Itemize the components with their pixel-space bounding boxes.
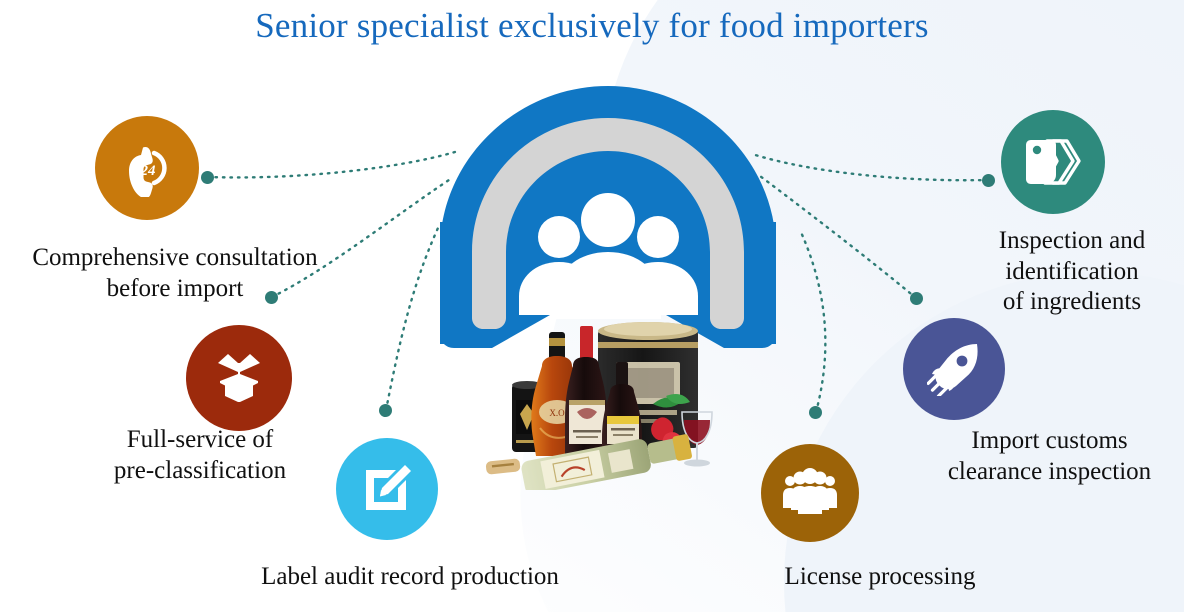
page-title: Senior specialist exclusively for food i… xyxy=(0,6,1184,46)
people-group-icon xyxy=(783,468,837,518)
edit-pencil-square-icon xyxy=(360,462,414,516)
node-license-processing[interactable] xyxy=(761,444,859,542)
node-label-audit-record-production[interactable] xyxy=(336,438,438,540)
label-label-audit-record-production: Label audit record production xyxy=(195,562,625,593)
svg-text:X.O: X.O xyxy=(549,408,565,418)
imported-food-and-beverage-products: X.O xyxy=(470,300,720,490)
node-full-service-pre-classification[interactable] xyxy=(186,325,292,431)
connector-dot-license xyxy=(809,406,822,419)
connector-dot-customs xyxy=(910,292,923,305)
phone-24h-badge-text: 24 xyxy=(140,163,157,179)
connector-dot-consultation xyxy=(201,171,214,184)
label-comprehensive-consultation: Comprehensive consultation before import xyxy=(0,243,350,304)
label-import-customs-clearance-inspection: Import customs clearance inspection xyxy=(915,426,1184,487)
label-full-service-pre-classification: Full-service of pre-classification xyxy=(82,425,318,486)
infographic-canvas: Senior specialist exclusively for food i… xyxy=(0,0,1184,612)
connector-dot-label-audit xyxy=(379,404,392,417)
label-license-processing: License processing xyxy=(720,562,1040,593)
rocket-icon xyxy=(927,342,981,396)
node-inspection-identification-of-ingredients[interactable] xyxy=(1001,110,1105,214)
node-import-customs-clearance-inspection[interactable] xyxy=(903,318,1005,420)
phone-24h-icon: 24 xyxy=(118,139,176,197)
label-inspection-identification-of-ingredients: Inspection and identification of ingredi… xyxy=(960,226,1184,318)
price-tags-icon xyxy=(1025,135,1081,189)
open-box-icon xyxy=(211,350,267,406)
connector-dot-inspection xyxy=(982,174,995,187)
node-comprehensive-consultation[interactable]: 24 xyxy=(95,116,199,220)
